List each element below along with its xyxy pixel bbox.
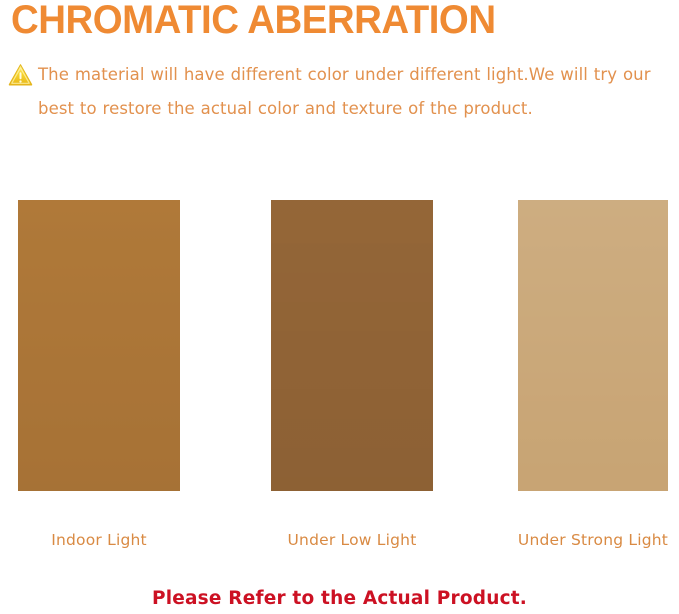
warning-triangle-icon (8, 63, 33, 86)
footer-note: Please Refer to the Actual Product. (0, 588, 679, 609)
swatch-row (0, 200, 679, 491)
notice-text: The material will have different color u… (38, 58, 679, 126)
swatch-caption-indoor-light: Indoor Light (18, 531, 180, 549)
wood-swatch-strong-light (518, 200, 668, 491)
wood-texture-image (518, 200, 668, 491)
wood-texture-image (271, 200, 433, 491)
wood-swatch-low-light (271, 200, 433, 491)
wood-texture-image (18, 200, 180, 491)
swatch-caption-low-light: Under Low Light (271, 531, 433, 549)
swatch-caption-strong-light: Under Strong Light (513, 531, 673, 549)
wood-swatch-indoor-light (18, 200, 180, 491)
page-title: CHROMATIC ABERRATION (11, 0, 496, 43)
swatch-captions: Indoor Light Under Low Light Under Stron… (0, 531, 679, 557)
